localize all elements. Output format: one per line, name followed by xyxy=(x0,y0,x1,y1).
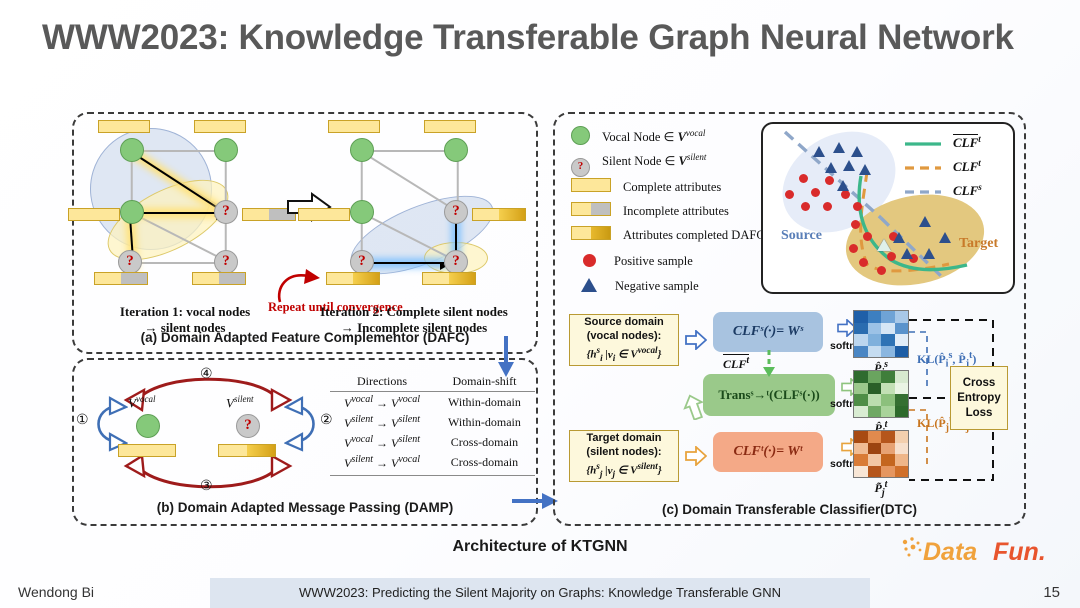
connector-arrow-down xyxy=(497,336,515,378)
arrow-target-to-trans xyxy=(683,394,705,420)
target-domain-formula: {hsj |vj ∈ Vsilent} xyxy=(586,459,661,481)
graph-node-vocal xyxy=(350,200,374,224)
damp-attr-complete xyxy=(118,444,176,457)
domain-shift-cell: Cross-domain xyxy=(434,452,535,475)
attribute-bar-dafc xyxy=(422,272,476,285)
negative-sample-triangle xyxy=(851,146,863,157)
vocal-set-sup: vocal xyxy=(136,394,156,404)
positive-sample-dot xyxy=(825,176,834,185)
matrix-cell xyxy=(868,371,882,383)
legend-item-blue-triangle: Negative sample xyxy=(571,278,699,294)
positive-sample-dot xyxy=(823,202,832,211)
matrix-cell xyxy=(881,323,895,335)
panel-c-caption: (c) Domain Transferable Classifier(DTC) xyxy=(555,502,1024,517)
scatter-legend-line-icon xyxy=(903,186,943,198)
matrix-cell xyxy=(854,334,868,346)
matrix-cell xyxy=(854,346,868,358)
graph-edge xyxy=(132,262,227,264)
graph-node-vocal xyxy=(120,200,144,224)
scatter-legend-line-icon xyxy=(903,162,943,174)
slide-root: WWW2023: Knowledge Transferable Graph Ne… xyxy=(0,0,1080,608)
slide-footer: Wendong Bi WWW2023: Predicting the Silen… xyxy=(0,578,1080,608)
matrix-cell xyxy=(881,371,895,383)
matrix-cell xyxy=(895,346,909,358)
matrix-cell xyxy=(881,406,895,418)
source-domain-line1: Source domain xyxy=(584,315,663,329)
footer-page-number: 15 xyxy=(1043,584,1060,601)
negative-sample-triangle xyxy=(859,164,871,175)
positive-sample-dot xyxy=(841,190,850,199)
graph-node-vocal xyxy=(214,138,238,162)
matrix-cell xyxy=(895,454,909,466)
graph-node-vocal xyxy=(350,138,374,162)
damp-node-vocal xyxy=(136,414,160,438)
dirs-header-shift: Domain-shift xyxy=(434,372,535,392)
direction-cell: Vvocal → Vvocal xyxy=(330,392,434,413)
legend-item-label: Negative sample xyxy=(597,279,699,294)
silent-set-label: Vsilent xyxy=(226,394,253,411)
positive-sample-dot xyxy=(785,190,794,199)
matrix-cell xyxy=(868,406,882,418)
matrix-cell xyxy=(881,334,895,346)
matrix-cell xyxy=(854,311,868,323)
attribute-bar-complete xyxy=(194,120,246,133)
source-domain-formula: {hsi |vi ∈ Vvocal} xyxy=(584,343,663,365)
direction-cell: Vsilent → Vvocal xyxy=(330,452,434,475)
scatter-legend-line-icon xyxy=(903,138,943,150)
graph-node-vocal xyxy=(120,138,144,162)
scatter-legend-item: CLFs xyxy=(903,182,982,206)
page-title: WWW2023: Knowledge Transferable Graph Ne… xyxy=(42,18,1042,58)
vocal-set-label: Vvocal xyxy=(128,394,155,411)
svg-text:Data: Data xyxy=(923,538,977,566)
graph-edge xyxy=(140,150,216,152)
legend-item-label: Positive sample xyxy=(596,254,693,269)
positive-sample-dot xyxy=(799,174,808,183)
matrix-cell xyxy=(854,383,868,395)
silent-set-sup: silent xyxy=(234,394,254,404)
legend-item-label: Incomplete attributes xyxy=(611,204,729,219)
legend-item-grey-question-circle: ?Silent Node ∈ Vsilent xyxy=(571,152,706,177)
datafun-logo: Data Fun. xyxy=(897,534,1062,568)
matrix-cell xyxy=(881,443,895,455)
yellow-bar-full-icon xyxy=(571,178,611,192)
domain-shift-cell: Within-domain xyxy=(434,412,535,432)
matrix-cell xyxy=(868,383,882,395)
legend-item-yellow-grey-bar: Incomplete attributes xyxy=(571,202,729,219)
matrix-cell xyxy=(895,466,909,478)
clf-hat-label: CLFt xyxy=(723,354,749,372)
attribute-bar-incomplete xyxy=(94,272,148,285)
matrix-cell xyxy=(881,431,895,443)
clf-target-box: CLFᵗ(·)= Wᵗ xyxy=(713,432,823,472)
matrix-cell xyxy=(868,323,882,335)
table-row: Vvocal → VvocalWithin-domain xyxy=(330,392,535,413)
legend-item-green-circle: Vocal Node ∈ Vvocal xyxy=(571,126,705,145)
iteration2-line1: Iteration 2: Complete silent nodes xyxy=(296,304,532,320)
ce-loss-line3: Loss xyxy=(957,406,1000,421)
dirs-header-directions: Directions xyxy=(330,372,434,392)
graph-edge xyxy=(370,156,456,210)
source-label: Source xyxy=(781,228,822,244)
matrix-cell xyxy=(881,466,895,478)
attribute-bar-complete xyxy=(68,208,120,221)
legend-item-yellow-gradient-bar: Attributes completed DAFC xyxy=(571,226,765,243)
cycle-number-1: ① xyxy=(76,412,89,429)
matrix-cell xyxy=(868,454,882,466)
matrix-cell xyxy=(881,394,895,406)
scatter-legend-label: CLF xyxy=(953,134,978,151)
grey-question-circle-icon: ? xyxy=(571,158,590,177)
scatter-legend: CLFtCLFtCLFs xyxy=(903,134,982,206)
attribute-bar-dafc xyxy=(472,208,526,221)
matrix-cell xyxy=(868,346,882,358)
arrow-source-to-clfs xyxy=(685,330,707,350)
message-edge-highlight xyxy=(362,262,444,264)
matrix-cell xyxy=(868,311,882,323)
positive-sample-dot xyxy=(859,258,868,267)
positive-sample-dot xyxy=(853,202,862,211)
negative-sample-triangle xyxy=(923,248,935,259)
matrix-cell xyxy=(854,323,868,335)
legend-item-red-dot: Positive sample xyxy=(571,254,693,269)
source-domain-box: Source domain (vocal nodes): {hsi |vi ∈ … xyxy=(569,314,679,366)
red-dot-icon xyxy=(583,254,596,267)
panel-damp: ① ② ③ ④ Vvocal Vsilent ? Directions Doma… xyxy=(72,358,538,526)
domain-scatter-plot: Source Target CLFtCLFtCLFs xyxy=(761,122,1015,294)
graph-node-silent: ? xyxy=(444,200,468,224)
boundary-sample-open-triangle xyxy=(877,239,891,251)
matrix-cell xyxy=(854,443,868,455)
legend-item-label: Attributes completed DAFC xyxy=(611,228,765,243)
cycle-number-4: ④ xyxy=(200,366,213,383)
negative-sample-triangle xyxy=(939,232,951,243)
directions-table: Directions Domain-shift Vvocal → VvocalW… xyxy=(330,372,535,476)
negative-sample-triangle xyxy=(813,146,825,157)
matrix-cell xyxy=(868,443,882,455)
damp-attr-dafc xyxy=(218,444,276,457)
matrix-cell xyxy=(868,431,882,443)
ce-loss-line1: Cross xyxy=(957,376,1000,391)
scatter-legend-label: CLF xyxy=(953,159,978,175)
attribute-bar-incomplete xyxy=(192,272,246,285)
matrix-label-target: P̃jt xyxy=(853,479,909,498)
attribute-bar-complete xyxy=(424,120,476,133)
matrix-cell xyxy=(895,443,909,455)
matrix-cell xyxy=(881,311,895,323)
scatter-legend-item: CLFt xyxy=(903,134,982,158)
negative-sample-triangle xyxy=(837,180,849,191)
positive-sample-dot xyxy=(887,252,896,261)
positive-sample-dot xyxy=(851,220,860,229)
trans-box: Transˢ→ᵗ(CLFˢ(·)) xyxy=(703,374,835,416)
negative-sample-triangle xyxy=(843,160,855,171)
table-row: Vsilent → VvocalCross-domain xyxy=(330,452,535,475)
attribute-bar-complete xyxy=(298,208,350,221)
matrix-cell xyxy=(854,394,868,406)
panel-dafc: ? ? ? ? ? ? xyxy=(72,112,538,354)
matrix-cell xyxy=(881,346,895,358)
silent-set-v: V xyxy=(226,395,234,410)
blue-triangle-icon xyxy=(581,278,597,292)
attribute-bar-complete xyxy=(328,120,380,133)
scatter-legend-item: CLFt xyxy=(903,158,982,182)
positive-sample-dot xyxy=(877,266,886,275)
matrix-p-hat-source xyxy=(853,310,909,358)
matrix-cell xyxy=(895,431,909,443)
svg-text:Fun.: Fun. xyxy=(993,538,1046,566)
matrix-p-tilde-target xyxy=(853,430,909,478)
yellow-grey-bar-icon xyxy=(571,202,611,216)
legend-item-label: Silent Node ∈ Vsilent xyxy=(590,152,706,169)
graph-node-vocal xyxy=(444,138,468,162)
graph-edge xyxy=(370,150,448,152)
cycle-number-3: ③ xyxy=(200,478,213,495)
graph-node-silent: ? xyxy=(444,250,468,274)
target-label: Target xyxy=(959,236,998,252)
yellow-gradient-bar-icon xyxy=(571,226,611,240)
attribute-bar-complete xyxy=(98,120,150,133)
graph-node-silent: ? xyxy=(214,250,238,274)
panel-a-caption: (a) Domain Adapted Feature Complementor … xyxy=(74,330,536,345)
target-domain-line1: Target domain xyxy=(586,431,661,445)
negative-sample-triangle xyxy=(825,162,837,173)
matrix-cell xyxy=(881,383,895,395)
direction-cell: Vvocal → Vsilent xyxy=(330,432,434,452)
matrix-cell xyxy=(868,334,882,346)
clf-source-box: CLFˢ(·)= Wˢ xyxy=(713,312,823,352)
negative-sample-triangle xyxy=(901,248,913,259)
matrix-cell xyxy=(895,323,909,335)
matrix-cell xyxy=(854,466,868,478)
legend-item-yellow-bar-full: Complete attributes xyxy=(571,178,721,195)
negative-sample-triangle xyxy=(833,142,845,153)
footer-subtitle: WWW2023: Predicting the Silent Majority … xyxy=(210,585,870,600)
negative-sample-triangle xyxy=(893,232,905,243)
matrix-cell xyxy=(854,454,868,466)
panel-b-caption: (b) Domain Adapted Message Passing (DAMP… xyxy=(74,500,536,515)
message-edge-highlight xyxy=(134,212,220,214)
matrix-cell xyxy=(895,334,909,346)
target-domain-box: Target domain (silent nodes): {hsj |vj ∈… xyxy=(569,430,679,482)
panel-dtc: Vocal Node ∈ Vvocal?Silent Node ∈ Vsilen… xyxy=(553,112,1026,526)
clf-hat-transfer-arrow xyxy=(761,350,777,378)
graph-node-silent: ? xyxy=(214,200,238,224)
table-row: Vsilent → VsilentWithin-domain xyxy=(330,412,535,432)
positive-sample-dot xyxy=(849,244,858,253)
vocal-set-v: V xyxy=(128,395,136,410)
scatter-legend-label: CLF xyxy=(953,183,978,199)
graph-node-silent: ? xyxy=(118,250,142,274)
matrix-cell xyxy=(895,406,909,418)
matrix-cell xyxy=(895,311,909,323)
matrix-cell xyxy=(868,394,882,406)
attribute-bar-dafc xyxy=(326,272,380,285)
legend-item-label: Vocal Node ∈ Vvocal xyxy=(590,128,705,145)
damp-node-silent: ? xyxy=(236,414,260,438)
matrix-cell xyxy=(895,383,909,395)
domain-shift-cell: Cross-domain xyxy=(434,432,535,452)
positive-sample-dot xyxy=(811,188,820,197)
matrix-cell xyxy=(895,371,909,383)
direction-cell: Vsilent → Vsilent xyxy=(330,412,434,432)
matrix-cell xyxy=(854,431,868,443)
green-circle-icon xyxy=(571,126,590,145)
arrow-target-to-clft xyxy=(685,446,707,466)
matrix-cell xyxy=(895,394,909,406)
positive-sample-dot xyxy=(863,232,872,241)
negative-sample-triangle xyxy=(919,216,931,227)
legend-item-label: Complete attributes xyxy=(611,180,721,195)
positive-sample-dot xyxy=(801,202,810,211)
matrix-cell xyxy=(854,371,868,383)
matrix-cell xyxy=(868,466,882,478)
matrix-cell xyxy=(881,454,895,466)
table-row: Vvocal → VsilentCross-domain xyxy=(330,432,535,452)
domain-shift-cell: Within-domain xyxy=(434,392,535,413)
ce-loss-line2: Entropy xyxy=(957,391,1000,406)
footer-author: Wendong Bi xyxy=(18,584,94,600)
matrix-p-hat-target xyxy=(853,370,909,418)
graph-node-silent: ? xyxy=(350,250,374,274)
cross-entropy-loss-box: Cross Entropy Loss xyxy=(950,366,1008,430)
matrix-cell xyxy=(854,406,868,418)
target-domain-line2: (silent nodes): xyxy=(586,445,661,459)
source-domain-line2: (vocal nodes): xyxy=(584,329,663,343)
iteration1-line1: Iteration 1: vocal nodes xyxy=(80,304,290,320)
